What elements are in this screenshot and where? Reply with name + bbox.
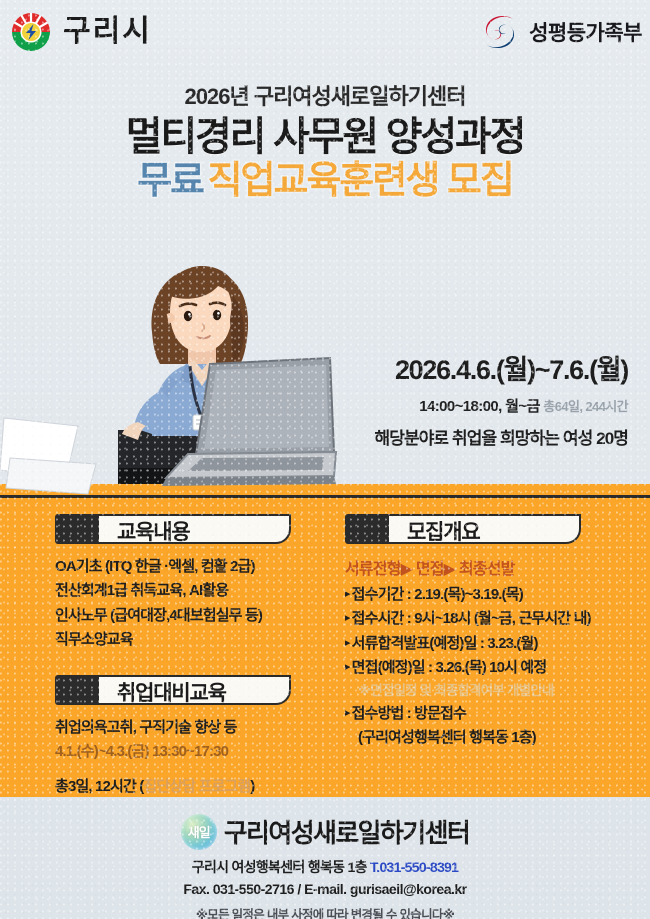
program-target: 해당분야로 취업을 희망하는 여성 20명	[288, 424, 628, 449]
poster-root: 구리시 성평등가족부 2026년 구리여성새로일하기센터 멀티경리 사무원 양성…	[0, 0, 650, 919]
job-prep-line-1: 취업의욕고취, 구직기술 향상 등	[55, 716, 345, 740]
job-prep-total: 총3일, 12시간 (	[55, 778, 143, 795]
job-prep-program: 집단상담 프로그램	[143, 778, 250, 795]
right-column: 모집개요 서류전형▶ 면접▶ 최종선발 ▸접수기간 : 2.19.(목)~3.1…	[345, 514, 640, 750]
curriculum-list: OA기초 (ITQ 한글 ·엑셀, 컴활 2급) 전산회계1급 취득교육, AI…	[55, 555, 345, 653]
title-pretext: 2026년 구리여성새로일하기센터	[0, 86, 650, 108]
tab-dark-block	[345, 514, 389, 544]
triangle-bullet-icon: ▸	[345, 612, 350, 624]
curriculum-line: 직무소양교육	[55, 628, 345, 652]
tab-dark-block	[55, 675, 99, 705]
details-panel: 교육내용 OA기초 (ITQ 한글 ·엑셀, 컴활 2급) 전산회계1급 취득교…	[0, 498, 650, 797]
section-header-curriculum: 교육내용	[55, 514, 291, 544]
guri-city-label: 구리시	[63, 17, 152, 47]
footer-address-line: 구리시 여성행복센터 행복동 1층 T.031-550-8391	[0, 857, 650, 877]
footer-fax-email: Fax. 031-550-2716 / E-mail. gurisaeil@ko…	[0, 881, 650, 897]
laptop-illustration	[158, 356, 338, 496]
recruitment-method: ▸접수방법 : 방문접수	[345, 702, 640, 726]
title-block: 2026년 구리여성새로일하기센터 멀티경리 사무원 양성과정 무료 직업교육훈…	[0, 86, 650, 202]
poster-footer: 새일 구리여성새로일하기센터 구리시 여성행복센터 행복동 1층 T.031-5…	[0, 797, 650, 919]
job-prep-list: 취업의욕고취, 구직기술 향상 등 4.1.(수)~4.3.(금) 13:30~…	[55, 716, 345, 799]
job-prep-line-3: 총3일, 12시간 (집단상담 프로그램)	[55, 775, 345, 799]
recruitment-method-location: (구리여성행복센터 행복동 1층)	[345, 726, 640, 750]
title-free-badge: 무료	[137, 160, 203, 202]
title-subline: 무료 직업교육훈련생 모집	[0, 162, 650, 202]
poster-header: 구리시 성평등가족부	[0, 0, 650, 66]
section-header-job-prep: 취업대비교육	[55, 675, 291, 705]
triangle-bullet-icon: ▸	[345, 637, 350, 649]
footer-brand-row: 새일 구리여성새로일하기센터	[0, 813, 650, 850]
title-recruit-text: 직업교육훈련생 모집	[208, 160, 513, 202]
footer-center-name: 구리여성새로일하기센터	[224, 813, 470, 850]
triangle-bullet-icon: ▸	[345, 707, 350, 719]
documents-illustration	[0, 412, 140, 497]
page-title: 멀티경리 사무원 양성과정	[0, 115, 650, 160]
recruitment-item: ▸서류합격발표(예정)일 : 3.23.(월)	[345, 632, 640, 656]
saeil-logo-text: 새일	[181, 814, 217, 850]
curriculum-line: 전산회계1급 취득교육, AI활용	[55, 579, 345, 603]
recruitment-item: ▸접수시간 : 9시~18시 (월~금, 근무시간 내)	[345, 607, 640, 631]
section-title-recruitment: 모집개요	[407, 516, 479, 546]
job-prep-paren: )	[250, 778, 254, 795]
recruitment-item: ▸면접(예정)일 : 3.26.(목) 10시 예정	[345, 656, 640, 680]
curriculum-line: 인사노무 (급여대장,4대보험실무 등)	[55, 604, 345, 628]
recruitment-item: ▸접수기간 : 2.19.(목)~3.19.(목)	[345, 583, 640, 607]
recruitment-item-text: 서류합격발표(예정)일 : 3.23.(월)	[352, 635, 538, 652]
korea-government-taegeuk-icon	[480, 12, 520, 52]
recruitment-item-text: 접수시간 : 9시~18시 (월~금, 근무시간 내)	[352, 610, 591, 627]
program-time: 14:00~18:00, 월~금 총64일, 244시간	[288, 395, 628, 416]
recruitment-item-text: 접수기간 : 2.19.(목)~3.19.(목)	[352, 586, 523, 603]
footer-address: 구리시 여성행복센터 행복동 1층	[192, 859, 370, 875]
footer-disclaimer: ※모든 일정은 내부 사정에 따라 변경될 수 있습니다※	[0, 904, 650, 919]
triangle-bullet-icon: ▸	[345, 661, 350, 673]
program-time-total: 총64일, 244시간	[543, 399, 628, 414]
guri-city-logo: 구리시	[8, 9, 152, 55]
recruitment-item-list: ▸접수기간 : 2.19.(목)~3.19.(목) ▸접수시간 : 9시~18시…	[345, 583, 640, 750]
recruitment-flow: 서류전형▶ 면접▶ 최종선발	[345, 555, 640, 579]
job-prep-line-2: 4.1.(수)~4.3.(금) 13:30~17:30	[55, 740, 345, 764]
section-title-curriculum: 교육내용	[117, 516, 189, 546]
tab-dark-block	[55, 514, 99, 544]
government-logo: 성평등가족부	[480, 12, 642, 52]
program-time-main: 14:00~18:00, 월~금	[419, 398, 540, 415]
section-header-recruitment: 모집개요	[345, 514, 581, 544]
recruitment-note: ※면접일정 및 최종합격여부 개별안내	[345, 680, 640, 702]
recruitment-method-text: 접수방법 : 방문접수	[352, 705, 466, 722]
left-column: 교육내용 OA기초 (ITQ 한글 ·엑셀, 컴활 2급) 전산회계1급 취득교…	[55, 514, 345, 799]
recruitment-item-text: 면접(예정)일 : 3.26.(목) 10시 예정	[352, 659, 547, 676]
program-date-range: 2026.4.6.(월)~7.6.(월)	[288, 356, 628, 386]
section-title-job-prep: 취업대비교육	[117, 677, 226, 707]
program-info-block: 2026.4.6.(월)~7.6.(월) 14:00~18:00, 월~금 총6…	[288, 356, 628, 449]
footer-telephone: T.031-550-8391	[370, 859, 458, 875]
triangle-bullet-icon: ▸	[345, 588, 350, 600]
government-label: 성평등가족부	[529, 17, 642, 47]
guri-emblem-icon	[8, 9, 54, 55]
saeil-logo-icon: 새일	[181, 814, 217, 850]
curriculum-line: OA기초 (ITQ 한글 ·엑셀, 컴활 2급)	[55, 555, 345, 579]
